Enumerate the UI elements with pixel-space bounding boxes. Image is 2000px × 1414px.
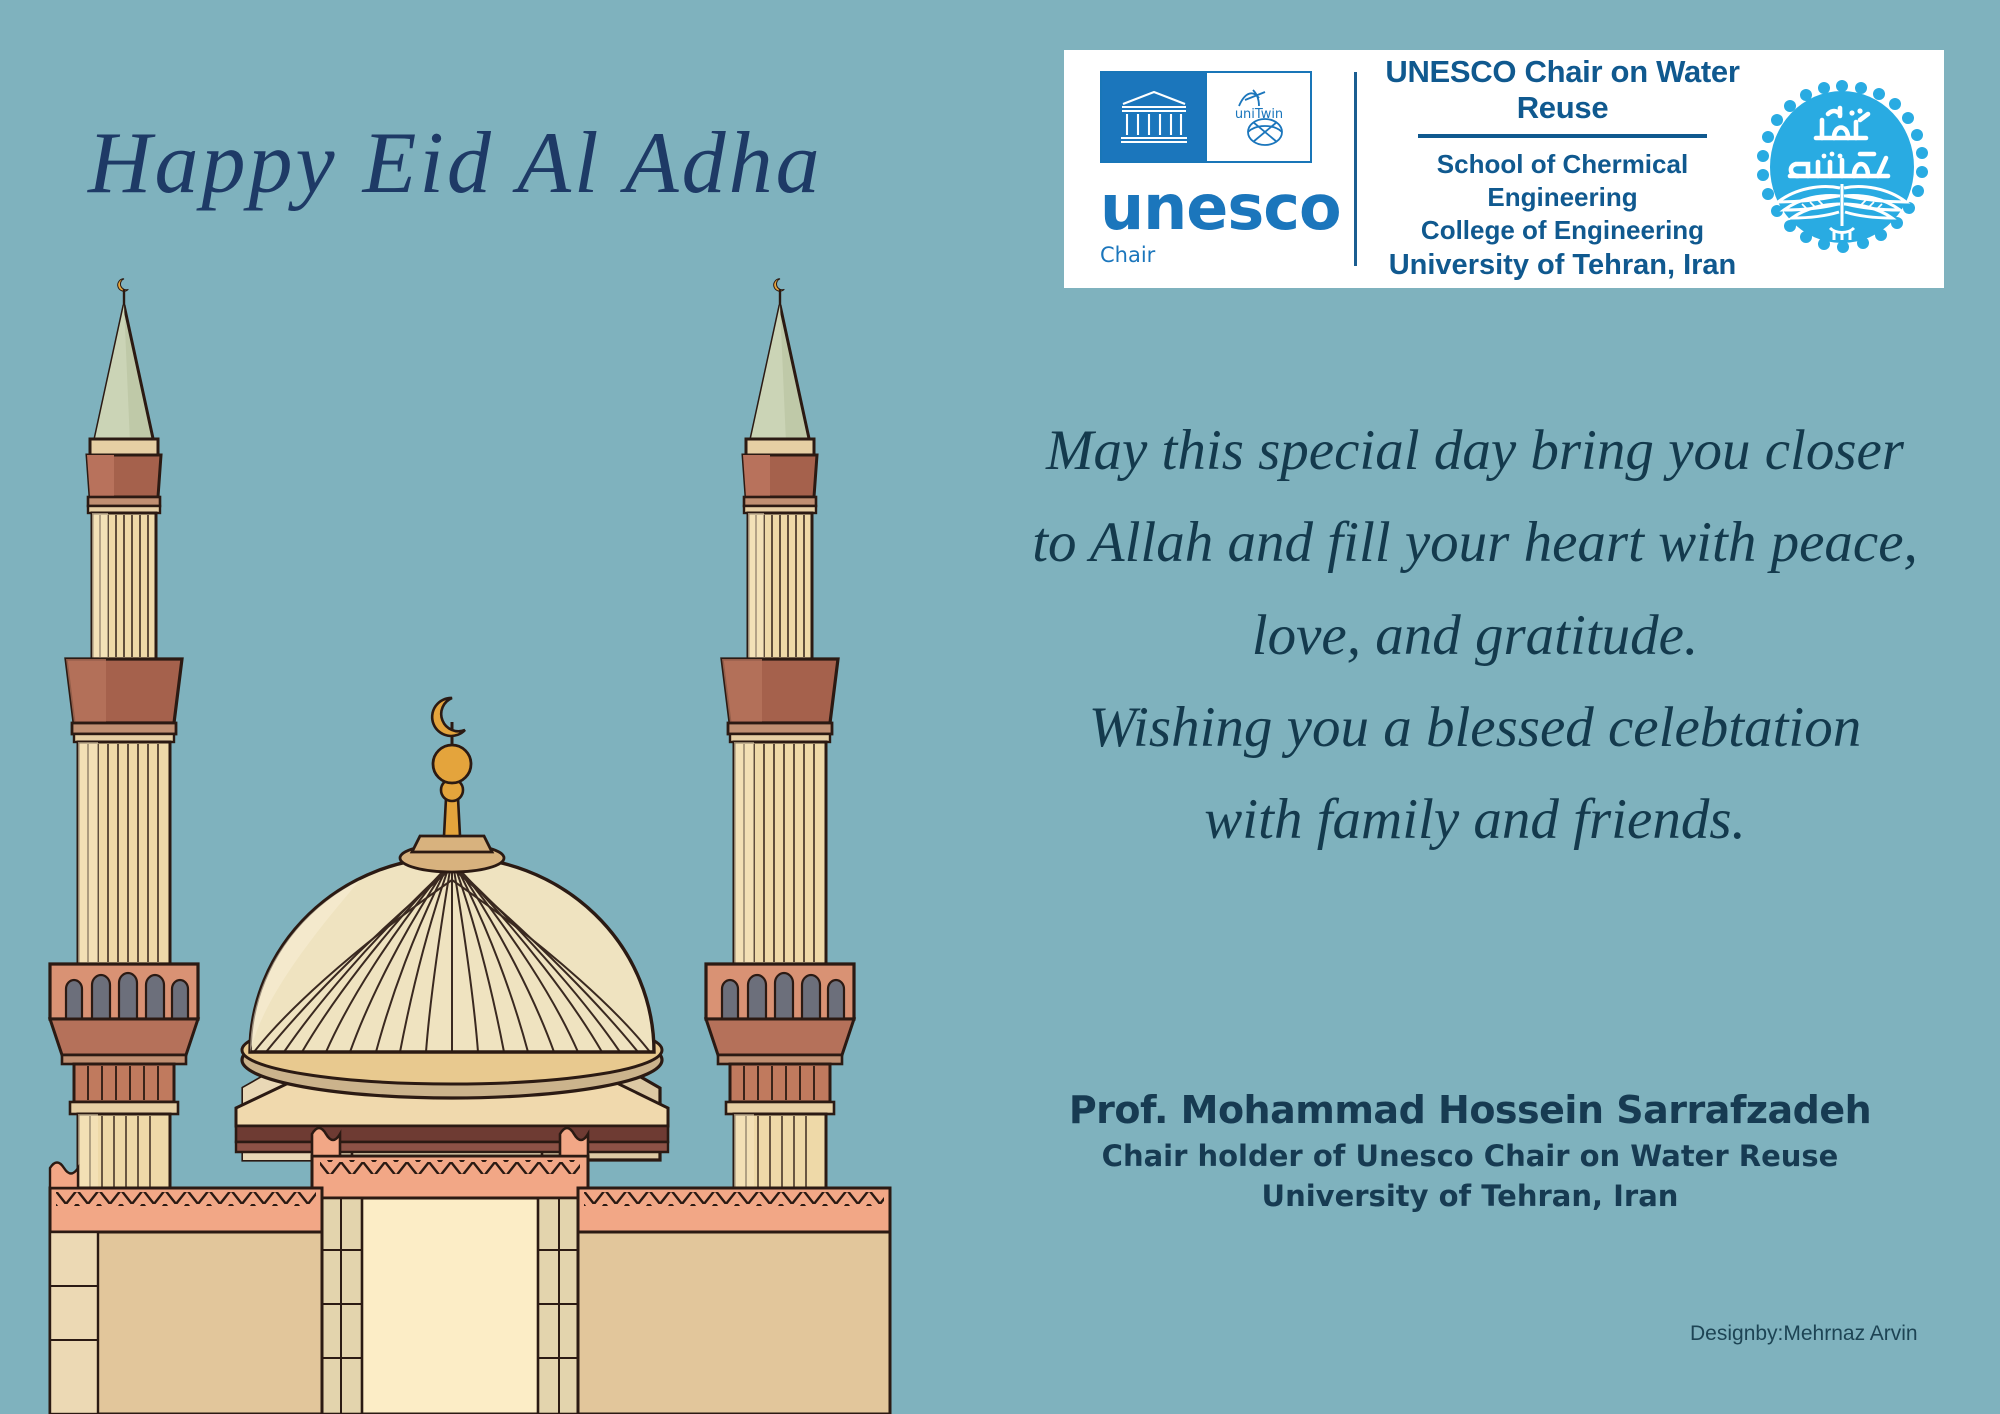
eid-greeting-card: Happy Eid Al Adha bbox=[0, 0, 2000, 1414]
unesco-logo-group: uniTwin unesco Chair bbox=[1078, 71, 1348, 267]
message-line-1: May this special day bring you closer bbox=[1000, 405, 1950, 497]
unitwin-globe-icon: uniTwin bbox=[1205, 73, 1310, 161]
message-line-3: love, and gratitude. bbox=[1000, 590, 1950, 682]
signature-role-2: University of Tehran, Iran bbox=[1020, 1177, 1920, 1215]
designer-credit: Designby:Mehrnaz Arvin bbox=[1690, 1322, 1918, 1346]
message-line-4: Wishing you a blessed celebtation bbox=[1000, 682, 1950, 774]
message-line-5: with family and friends. bbox=[1000, 774, 1950, 866]
greeting-message: May this special day bring you closer to… bbox=[1000, 405, 1950, 867]
unesco-chair-logo-banner: uniTwin unesco Chair UNESCO Chair on Wat… bbox=[1064, 50, 1944, 288]
page-title: Happy Eid Al Adha bbox=[88, 118, 823, 210]
chair-rule bbox=[1418, 134, 1707, 138]
chair-title: UNESCO Chair on Water Reuse bbox=[1377, 54, 1748, 126]
signature-name: Prof. Mohammad Hossein Sarrafzadeh bbox=[1020, 1086, 1920, 1135]
unesco-emblem-row: uniTwin bbox=[1100, 71, 1312, 163]
university-of-tehran-seal bbox=[1754, 80, 1930, 258]
unesco-chair-label: Chair bbox=[1100, 243, 1348, 267]
signature-role-1: Chair holder of Unesco Chair on Water Re… bbox=[1020, 1137, 1920, 1175]
chair-affiliation-2: College of Engineering bbox=[1377, 214, 1748, 247]
logo-divider bbox=[1354, 72, 1357, 266]
message-line-2: to Allah and fill your heart with peace, bbox=[1000, 497, 1950, 589]
chair-affiliation-1: School of Chermical Engineering bbox=[1377, 148, 1748, 215]
unesco-temple-icon bbox=[1102, 73, 1205, 161]
unitwin-label: uniTwin bbox=[1234, 107, 1282, 122]
chair-text-block: UNESCO Chair on Water Reuse School of Ch… bbox=[1377, 54, 1754, 285]
crescent-finial-icon bbox=[432, 698, 465, 736]
signature-block: Prof. Mohammad Hossein Sarrafzadeh Chair… bbox=[1020, 1086, 1920, 1215]
unesco-wordmark: unesco bbox=[1100, 177, 1348, 239]
chair-affiliation-3: University of Tehran, Iran bbox=[1377, 247, 1748, 284]
mosque-illustration bbox=[0, 0, 900, 1414]
